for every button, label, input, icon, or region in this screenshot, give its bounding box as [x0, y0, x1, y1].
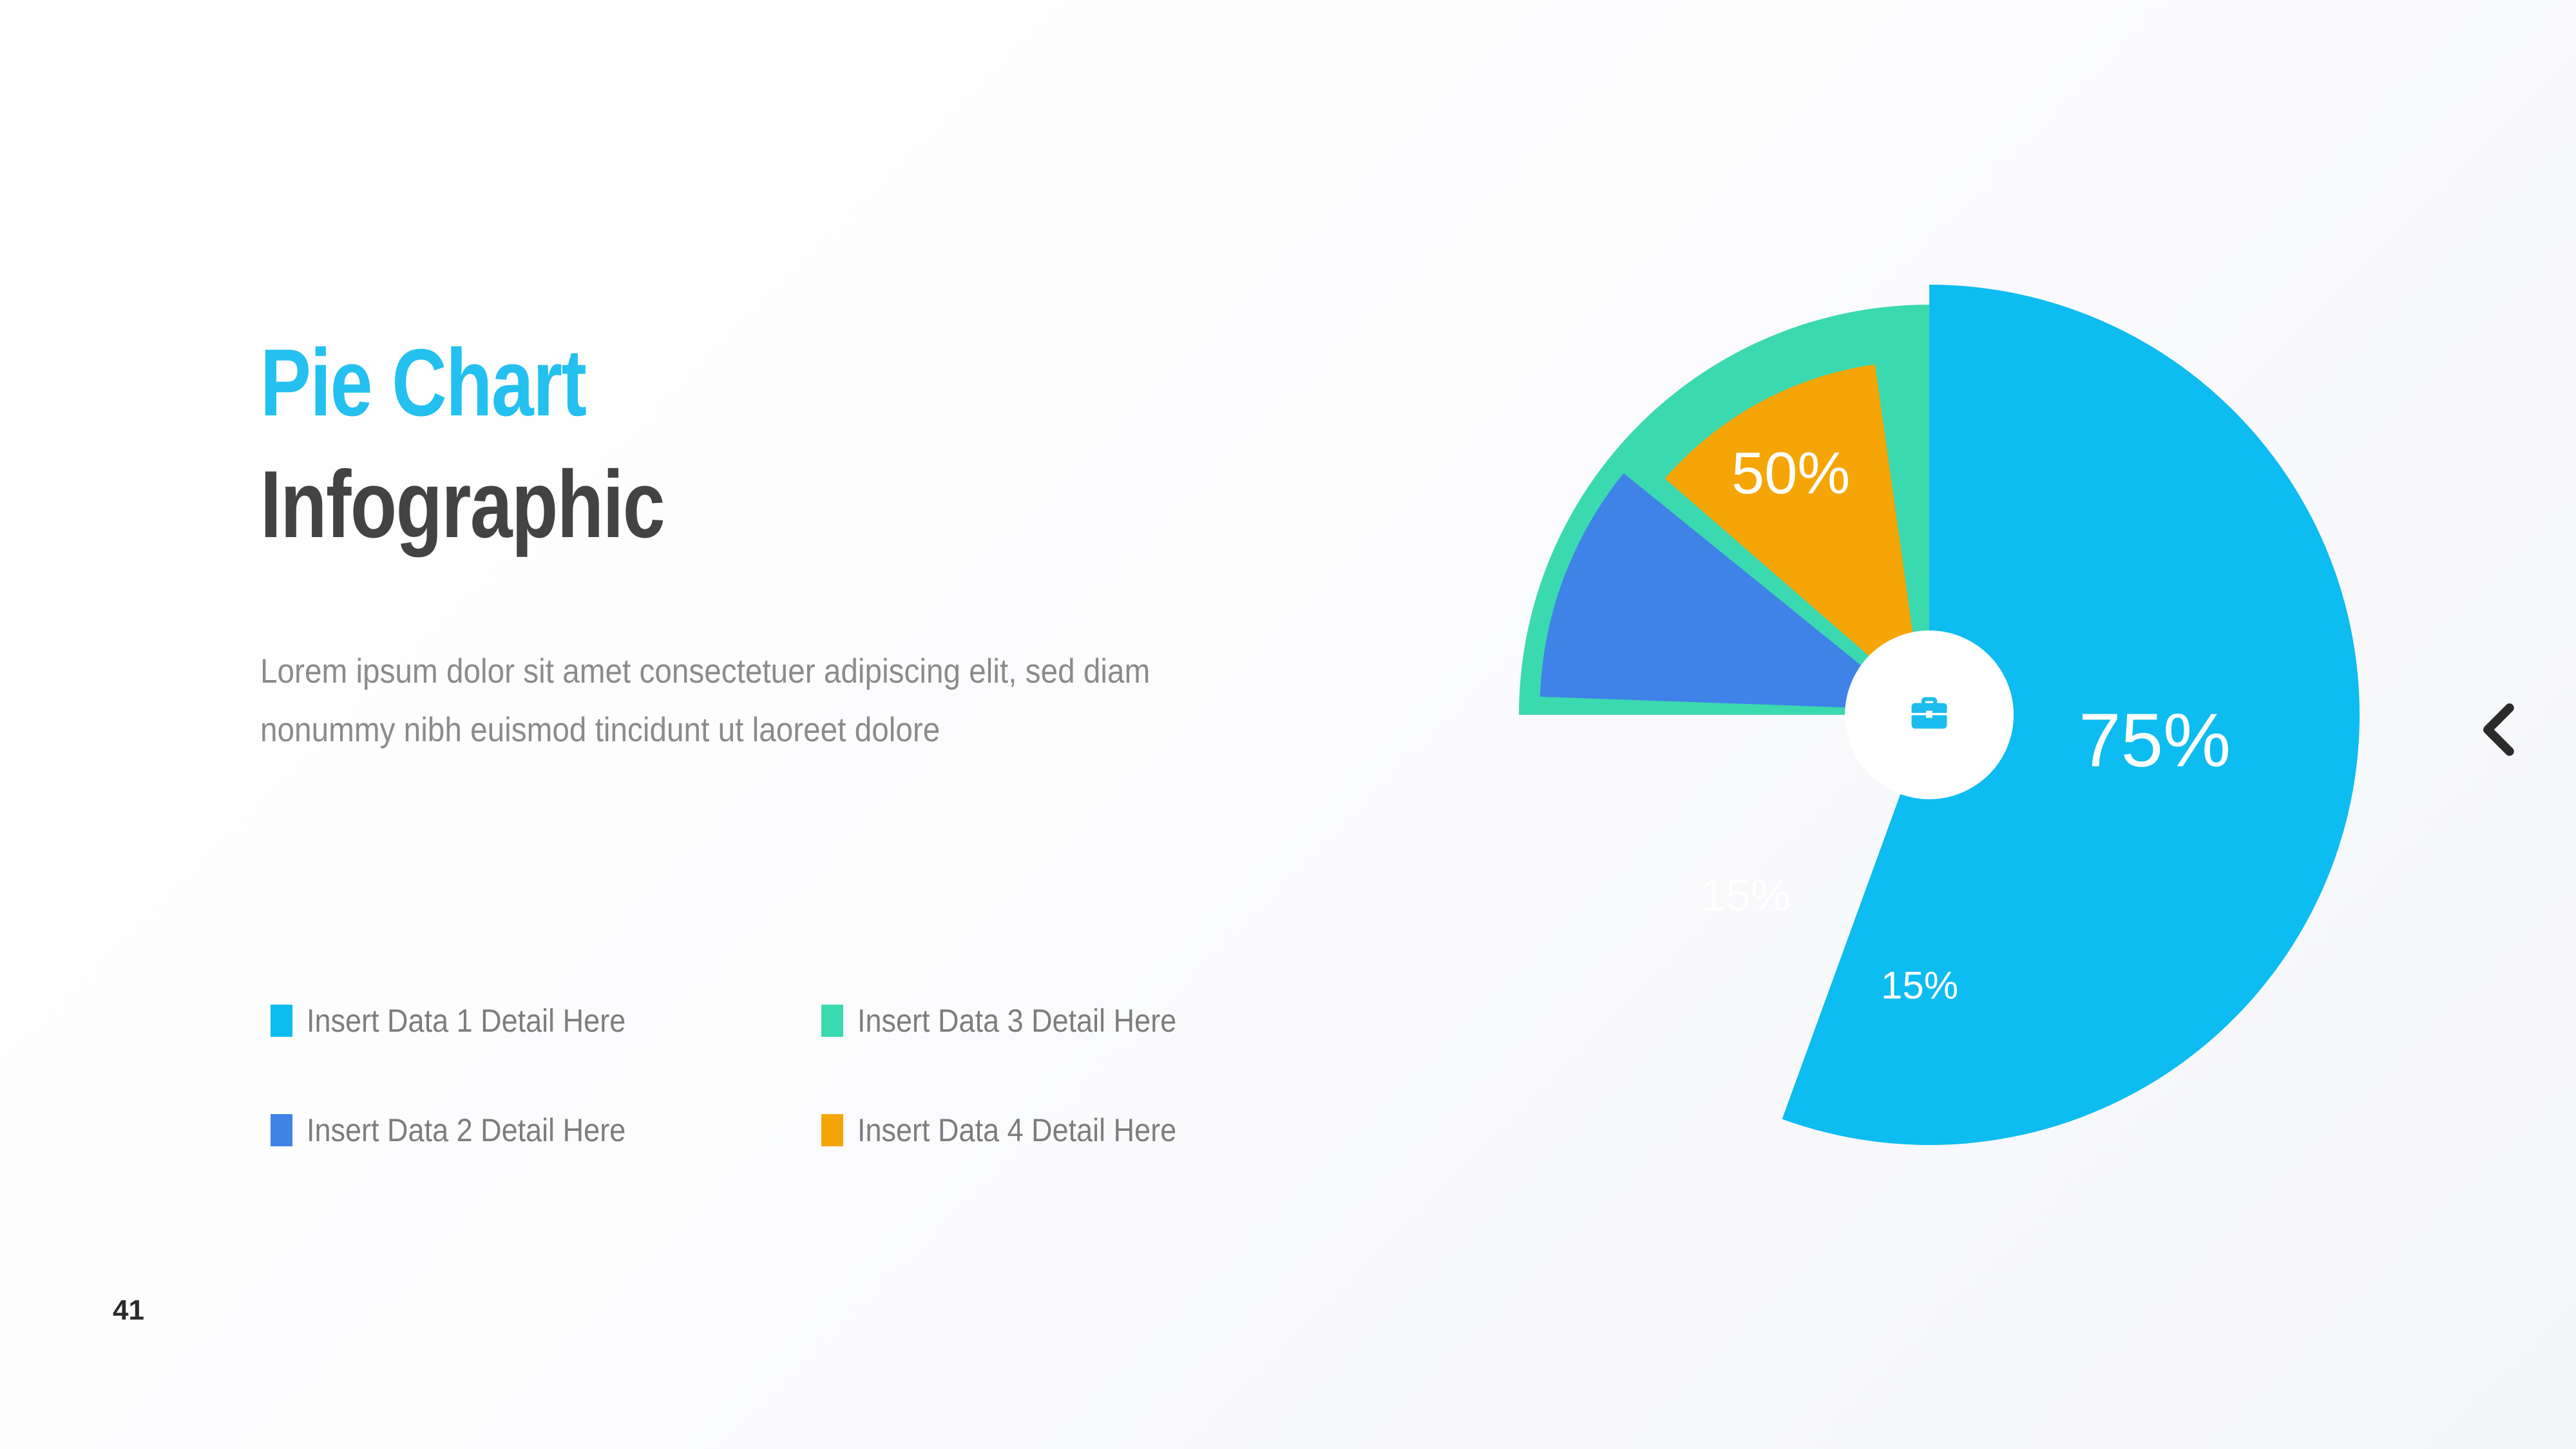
body-paragraph: Lorem ipsum dolor sit amet consectetuer … [260, 642, 1188, 759]
legend-swatch-1-icon [271, 1005, 292, 1037]
pie-slice-value-label: 75% [2079, 698, 2231, 783]
page-title-primary: Pie Chart [260, 322, 1095, 444]
pie-slice-value-label: 15% [1701, 870, 1791, 920]
chart-legend: Insert Data 1 Detail Here Insert Data 3 … [271, 966, 1275, 1185]
center-disc [1845, 630, 2014, 799]
legend-item-2[interactable]: Insert Data 2 Detail Here [271, 1075, 821, 1185]
legend-label-1: Insert Data 1 Detail Here [307, 1002, 625, 1039]
page-title-secondary: Infographic [260, 444, 1095, 565]
page-number: 41 [113, 1294, 144, 1327]
pie-slice-value-label: 50% [1732, 440, 1850, 506]
legend-item-4[interactable]: Insert Data 4 Detail Here [821, 1075, 1372, 1185]
legend-swatch-4-icon [821, 1114, 843, 1146]
pie-chart-svg: 75%50%15%15% [1469, 251, 2383, 1185]
legend-label-4: Insert Data 4 Detail Here [857, 1112, 1176, 1149]
previous-slide-button[interactable] [2470, 694, 2528, 765]
legend-label-2: Insert Data 2 Detail Here [307, 1112, 625, 1149]
chevron-left-icon [2470, 694, 2528, 765]
text-column: Pie Chart Infographic Lorem ipsum dolor … [260, 322, 1304, 759]
pie-slice-value-label: 15% [1881, 964, 1958, 1007]
legend-swatch-2-icon [271, 1114, 292, 1146]
pie-chart: 75%50%15%15% [1469, 251, 2383, 1185]
legend-item-3[interactable]: Insert Data 3 Detail Here [821, 966, 1372, 1075]
legend-swatch-3-icon [821, 1005, 843, 1037]
legend-label-3: Insert Data 3 Detail Here [857, 1002, 1176, 1039]
legend-item-1[interactable]: Insert Data 1 Detail Here [271, 966, 821, 1075]
slide-canvas: Pie Chart Infographic Lorem ipsum dolor … [0, 0, 2576, 1449]
